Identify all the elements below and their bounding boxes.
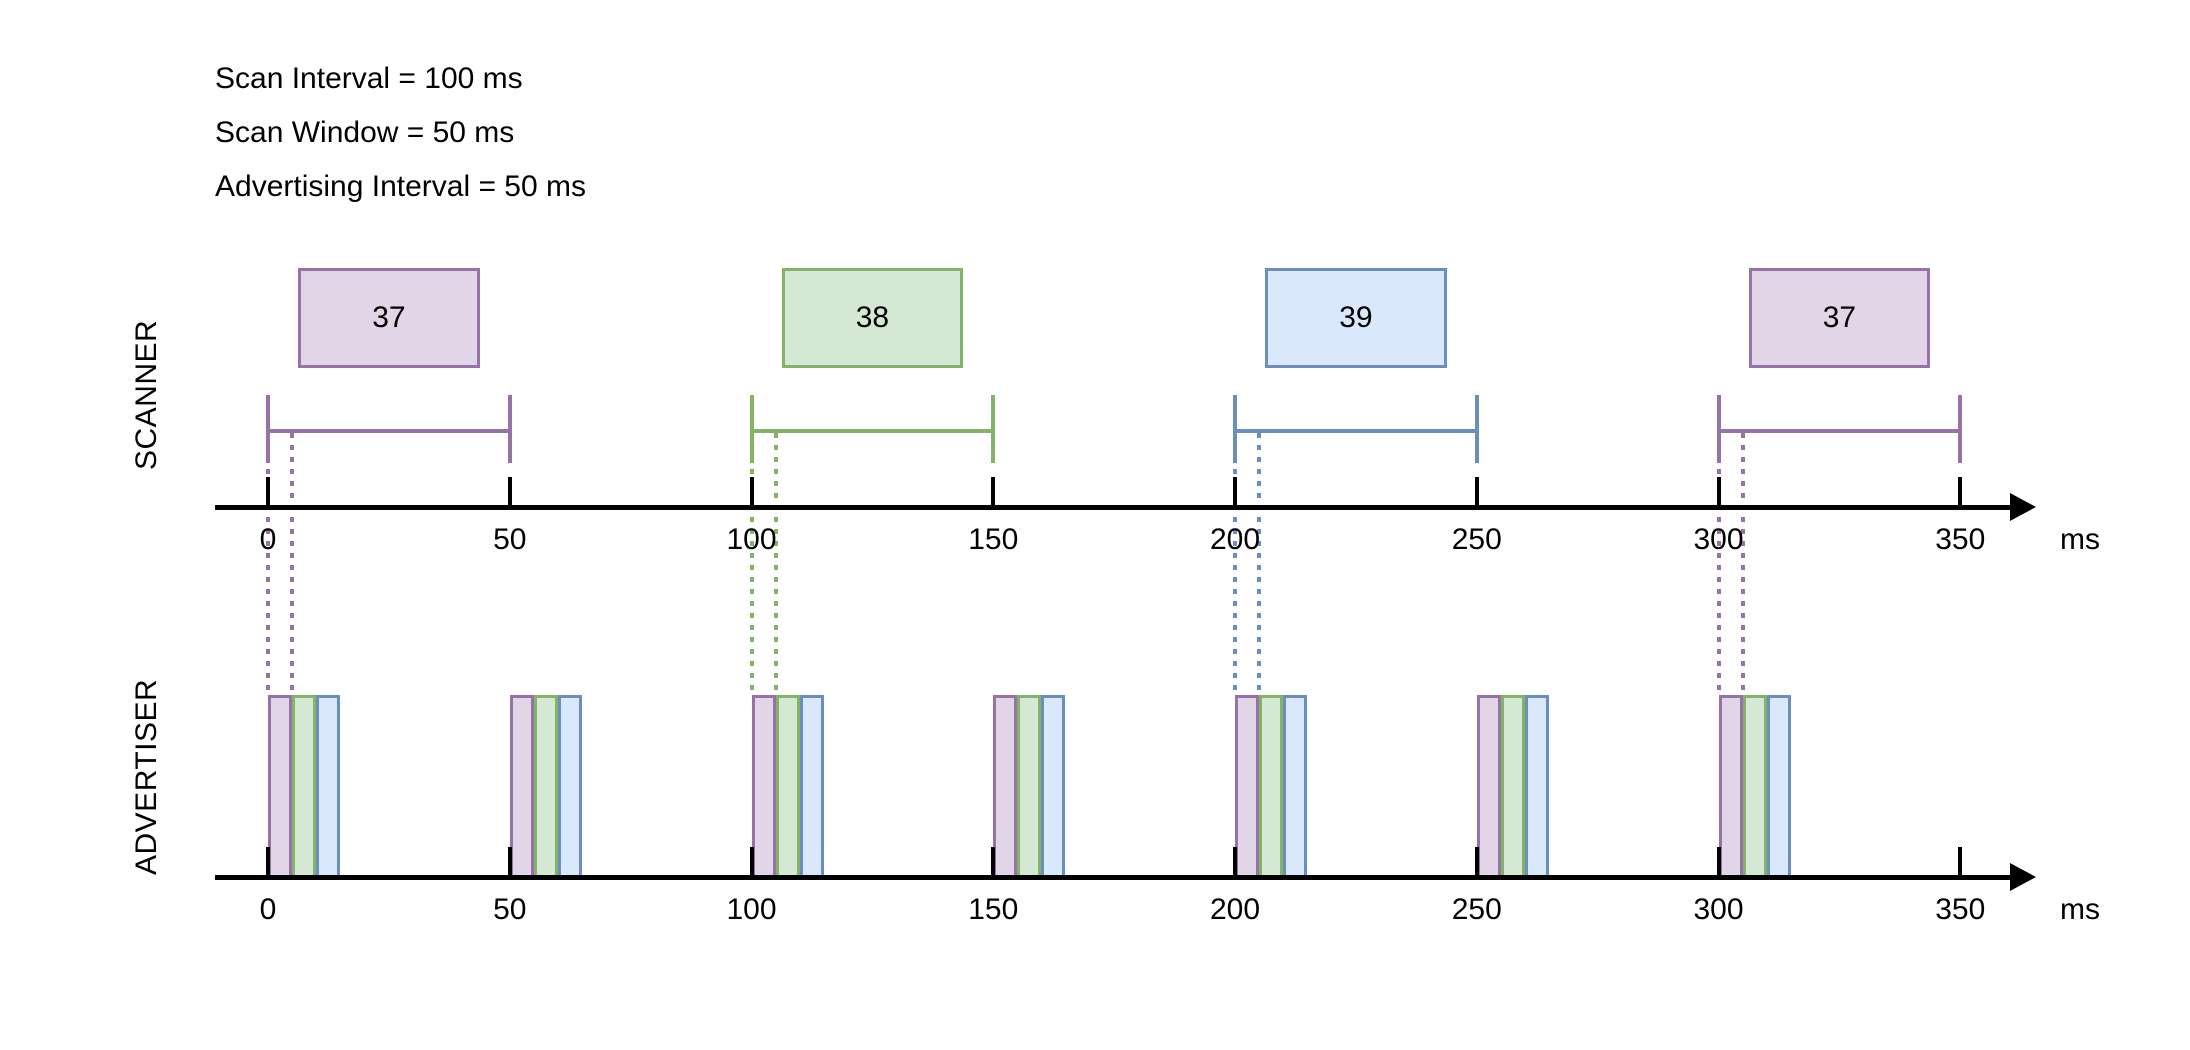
advertising-event	[1719, 695, 1791, 879]
advertiser-axis-tick	[991, 847, 995, 875]
advertising-channel-bar	[1767, 695, 1791, 879]
scan-window-bracket	[1233, 395, 1479, 463]
match-connector-line	[774, 433, 778, 695]
advertiser-axis-tick	[1233, 847, 1237, 875]
advertiser-axis-arrow-icon	[2010, 863, 2036, 891]
advertiser-axis-unit-label: ms	[2060, 893, 2100, 927]
advertising-channel-bar	[800, 695, 824, 879]
advertising-channel-bar	[510, 695, 534, 879]
parameter-advertising-interval: Advertising Interval = 50 ms	[215, 160, 586, 214]
scan-window-bracket-cap-right	[508, 395, 512, 463]
advertising-event	[993, 695, 1065, 879]
scan-window-bracket-cap-right	[1475, 395, 1479, 463]
scanner-axis-tick-label: 0	[260, 523, 277, 557]
scanner-axis-tick-label: 100	[726, 523, 776, 557]
scanner-axis-tick-label: 350	[1935, 523, 1985, 557]
advertiser-axis-tick-label: 200	[1210, 893, 1260, 927]
advertising-channel-bar	[776, 695, 800, 879]
advertiser-axis-tick-label: 250	[1452, 893, 1502, 927]
scanner-axis-tick-label: 150	[968, 523, 1018, 557]
advertising-channel-bar	[1235, 695, 1259, 879]
advertising-channel-bar	[1525, 695, 1549, 879]
scan-window-bracket-bar	[266, 429, 512, 433]
advertising-channel-bar	[534, 695, 558, 879]
scanner-axis-line	[215, 505, 2010, 510]
scan-window-bracket	[750, 395, 996, 463]
scanner-axis-tick	[508, 477, 512, 505]
diagram-canvas: Scan Interval = 100 ms Scan Window = 50 …	[0, 0, 2190, 1050]
scan-window-bracket-cap-right	[1958, 395, 1962, 463]
advertising-channel-bar	[1477, 695, 1501, 879]
advertising-event	[268, 695, 340, 879]
advertiser-axis-line	[215, 875, 2010, 880]
match-connector-line	[266, 433, 270, 695]
scan-channel-box: 37	[298, 268, 480, 368]
advertiser-axis-tick-label: 300	[1693, 893, 1743, 927]
scan-window-bracket-bar	[1717, 429, 1963, 433]
scanner-axis-tick	[266, 477, 270, 505]
advertiser-axis-tick	[266, 847, 270, 875]
advertising-channel-bar	[752, 695, 776, 879]
advertising-channel-bar	[1259, 695, 1283, 879]
scan-window-bracket-cap-left	[266, 395, 270, 463]
advertising-channel-bar	[1719, 695, 1743, 879]
scanner-axis-arrow-icon	[2010, 493, 2036, 521]
advertising-channel-bar	[1743, 695, 1767, 879]
advertising-channel-bar	[1041, 695, 1065, 879]
match-connector-line	[1257, 433, 1261, 695]
parameter-list: Scan Interval = 100 ms Scan Window = 50 …	[215, 52, 586, 214]
scanner-axis-tick-label: 300	[1693, 523, 1743, 557]
advertising-channel-bar	[1283, 695, 1307, 879]
parameter-scan-interval: Scan Interval = 100 ms	[215, 52, 586, 106]
advertiser-axis-tick	[750, 847, 754, 875]
scanner-axis-unit-label: ms	[2060, 523, 2100, 557]
match-connector-line	[750, 433, 754, 695]
advertising-channel-bar	[316, 695, 340, 879]
match-connector-line	[290, 433, 294, 695]
advertising-channel-bar	[1017, 695, 1041, 879]
scan-window-bracket-bar	[750, 429, 996, 433]
advertising-channel-bar	[268, 695, 292, 879]
scanner-axis-tick	[1717, 477, 1721, 505]
advertising-event	[752, 695, 824, 879]
scanner-axis-tick	[1233, 477, 1237, 505]
advertising-channel-bar	[558, 695, 582, 879]
advertiser-axis-tick-label: 350	[1935, 893, 1985, 927]
advertising-channel-bar	[993, 695, 1017, 879]
advertising-channel-bar	[292, 695, 316, 879]
advertising-event	[1235, 695, 1307, 879]
scan-window-bracket-cap-left	[1233, 395, 1237, 463]
scan-window-bracket-bar	[1233, 429, 1479, 433]
scanner-axis-tick	[1958, 477, 1962, 505]
row-label-advertiser: ADVERTISER	[130, 679, 164, 875]
scan-window-bracket	[1717, 395, 1963, 463]
advertiser-axis-tick-label: 50	[493, 893, 526, 927]
advertiser-axis-tick	[508, 847, 512, 875]
scanner-axis-tick-label: 200	[1210, 523, 1260, 557]
advertising-event	[1477, 695, 1549, 879]
parameter-scan-window: Scan Window = 50 ms	[215, 106, 586, 160]
advertiser-axis-tick-label: 150	[968, 893, 1018, 927]
advertising-channel-bar	[1501, 695, 1525, 879]
scan-window-bracket-cap-left	[750, 395, 754, 463]
advertiser-axis-tick	[1717, 847, 1721, 875]
scanner-axis-tick	[1475, 477, 1479, 505]
scanner-axis-tick	[750, 477, 754, 505]
advertiser-axis-tick-label: 100	[726, 893, 776, 927]
scan-channel-box: 39	[1265, 268, 1447, 368]
scan-window-bracket-cap-right	[991, 395, 995, 463]
scanner-axis-tick-label: 250	[1452, 523, 1502, 557]
advertising-event	[510, 695, 582, 879]
scan-window-bracket-cap-left	[1717, 395, 1721, 463]
match-connector-line	[1233, 433, 1237, 695]
row-label-scanner: SCANNER	[130, 320, 164, 470]
scan-channel-box: 38	[782, 268, 964, 368]
scan-channel-box: 37	[1749, 268, 1931, 368]
match-connector-line	[1717, 433, 1721, 695]
advertiser-axis-tick	[1475, 847, 1479, 875]
scanner-axis-tick-label: 50	[493, 523, 526, 557]
advertiser-axis-tick-label: 0	[260, 893, 277, 927]
scanner-axis-tick	[991, 477, 995, 505]
scan-window-bracket	[266, 395, 512, 463]
match-connector-line	[1741, 433, 1745, 695]
advertiser-axis-tick	[1958, 847, 1962, 875]
